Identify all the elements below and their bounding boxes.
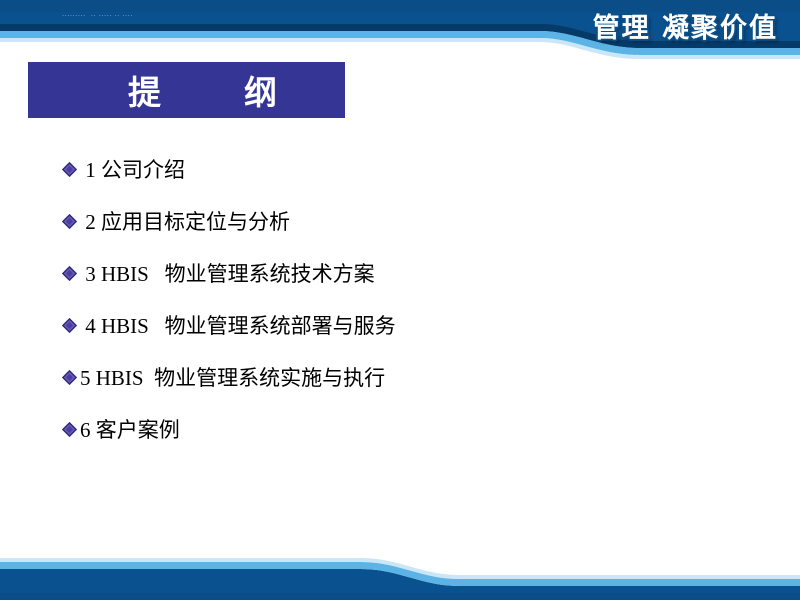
banner-shade-bottom	[0, 593, 800, 600]
list-item[interactable]: 5 HBIS 物业管理系统实施与执行	[62, 352, 762, 404]
list-item-label: 6 客户案例	[80, 420, 180, 441]
corner-stamp-text: ········· ·· ····· ·· ····	[62, 12, 133, 20]
header-caption: 管理 凝聚价值	[593, 6, 778, 45]
banner-accent-fade	[0, 558, 800, 579]
list-item-label: 2 应用目标定位与分析	[80, 212, 290, 233]
list-item-label: 5 HBIS 物业管理系统实施与执行	[80, 368, 385, 389]
list-item[interactable]: 1 公司介绍	[62, 144, 762, 196]
diamond-bullet-icon	[62, 318, 77, 333]
agenda-list: 1 公司介绍 2 应用目标定位与分析 3 HBIS 物业管理系统技术方案	[62, 144, 762, 456]
list-item-label: 3 HBIS 物业管理系统技术方案	[80, 264, 375, 285]
diamond-bullet-icon	[62, 162, 77, 177]
diamond-bullet-icon	[62, 214, 77, 229]
diamond-bullet-icon	[62, 370, 77, 385]
list-item-label: 1 公司介绍	[80, 160, 185, 181]
list-item[interactable]: 4 HBIS 物业管理系统部署与服务	[62, 300, 762, 352]
banner-body-shape	[0, 569, 800, 600]
bottom-banner-decoration	[0, 538, 800, 600]
diamond-bullet-icon	[62, 422, 77, 437]
diamond-bullet-icon	[62, 266, 77, 281]
list-item[interactable]: 3 HBIS 物业管理系统技术方案	[62, 248, 762, 300]
list-item-label: 4 HBIS 物业管理系统部署与服务	[80, 316, 396, 337]
list-item[interactable]: 6 客户案例	[62, 404, 762, 456]
list-item[interactable]: 2 应用目标定位与分析	[62, 196, 762, 248]
page-title: 提 纲	[94, 66, 279, 114]
slide-canvas: ········· ·· ····· ·· ···· 管理 凝聚价值 提 纲 1…	[0, 0, 800, 600]
banner-accent-stripe	[0, 562, 800, 586]
slide-title-box: 提 纲	[28, 62, 345, 118]
